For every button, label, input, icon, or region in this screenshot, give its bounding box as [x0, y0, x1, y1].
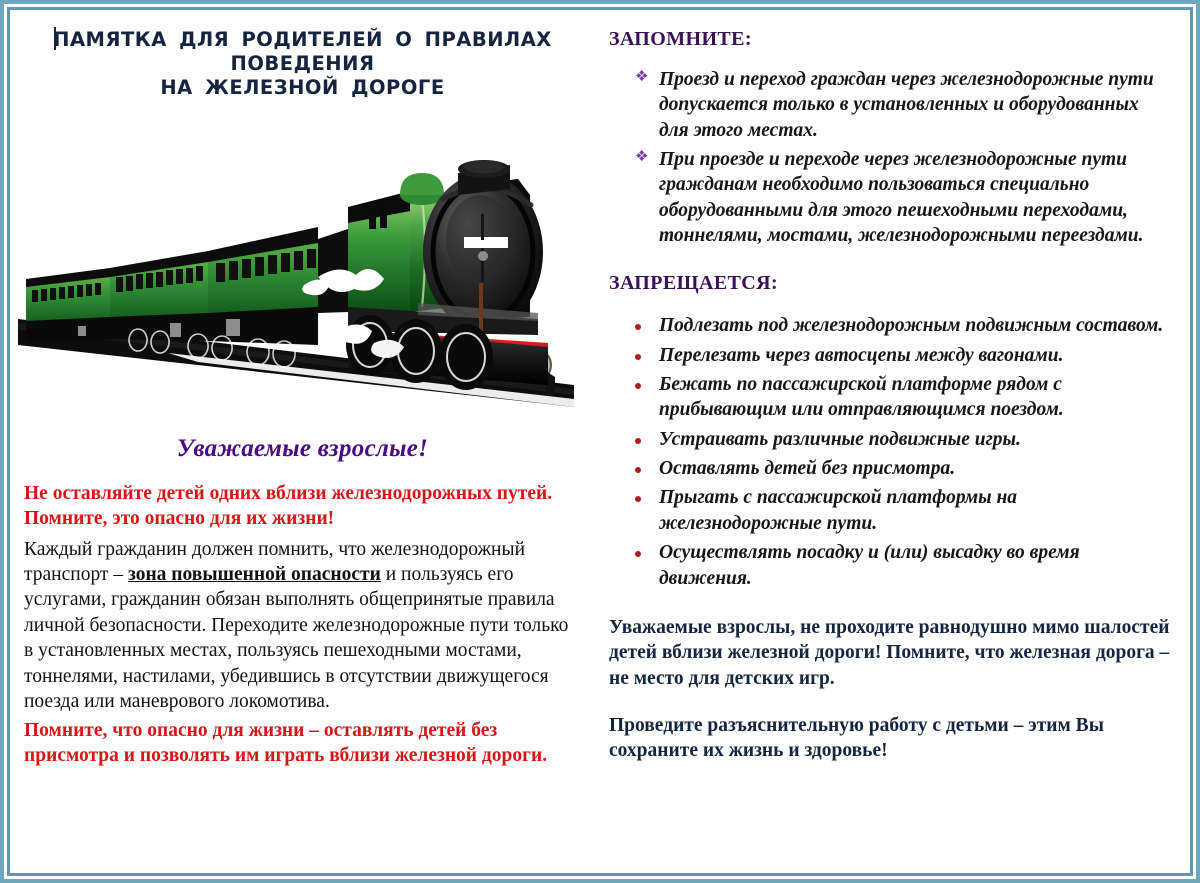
closing-paragraph-2: Проведите разъяснительную работу с детьм… — [609, 713, 1182, 764]
poster-inner-frame: ПАМЯТКА ДЛЯ РОДИТЕЛЕЙ О ПРАВИЛАХ ПОВЕДЕН… — [7, 7, 1193, 876]
list-item: Оставлять детей без присмотра. — [603, 456, 1172, 481]
greeting-heading: Уважаемые взрослые! — [24, 435, 581, 463]
warning-bottom: Помните, что опасно для жизни – оставлят… — [24, 718, 581, 768]
list-item: Устраивать различные подвижные игры. — [603, 427, 1172, 452]
main-paragraph: Каждый гражданин должен помнить, что жел… — [24, 537, 581, 714]
forbidden-heading: ЗАПРЕЩАЕТСЯ: — [609, 272, 1182, 295]
locomotive-cab — [318, 191, 410, 313]
list-item: Осуществлять посадку и (или) высадку во … — [603, 540, 1172, 591]
list-item: Проезд и переход граждан через железнодо… — [603, 67, 1172, 143]
passenger-carriages — [26, 227, 318, 345]
page-title: ПАМЯТКА ДЛЯ РОДИТЕЛЕЙ О ПРАВИЛАХ ПОВЕДЕН… — [24, 28, 581, 101]
list-item: Бежать по пассажирской платформе рядом с… — [603, 372, 1172, 423]
main-paragraph-part-2: и пользуясь его услугами, гражданин обяз… — [24, 564, 568, 712]
list-item: Перелезать через автосцепы между вагонам… — [603, 343, 1172, 368]
poster: ПАМЯТКА ДЛЯ РОДИТЕЛЕЙ О ПРАВИЛАХ ПОВЕДЕН… — [0, 0, 1200, 883]
warning-top: Не оставляйте детей одних вблизи железно… — [24, 481, 581, 531]
remember-list: Проезд и переход граждан через железнодо… — [603, 67, 1182, 248]
text-caret-icon — [54, 27, 56, 50]
remember-heading: ЗАПОМНИТЕ: — [609, 28, 1182, 51]
list-item: При проезде и переходе через железнодоро… — [603, 147, 1172, 248]
train-illustration — [18, 107, 574, 407]
left-column: ПАМЯТКА ДЛЯ РОДИТЕЛЕЙ О ПРАВИЛАХ ПОВЕДЕН… — [10, 10, 595, 876]
page-title-line-2: НА ЖЕЛЕЗНОЙ ДОРОГЕ — [24, 76, 581, 100]
steam-locomotive-icon — [18, 107, 574, 407]
list-item: Прыгать с пассажирской платформы на желе… — [603, 485, 1172, 536]
forbidden-list: Подлезать под железнодорожным подвижным … — [603, 313, 1182, 590]
list-item: Подлезать под железнодорожным подвижным … — [603, 313, 1172, 338]
closing-paragraph-1: Уважаемые взрослы, не проходите равнодуш… — [609, 615, 1182, 691]
main-paragraph-emphasis: зона повышенной опасности — [128, 564, 381, 585]
right-column: ЗАПОМНИТЕ: Проезд и переход граждан чере… — [595, 10, 1193, 876]
page-title-line-1: ПАМЯТКА ДЛЯ РОДИТЕЛЕЙ О ПРАВИЛАХ ПОВЕДЕН… — [24, 28, 581, 76]
